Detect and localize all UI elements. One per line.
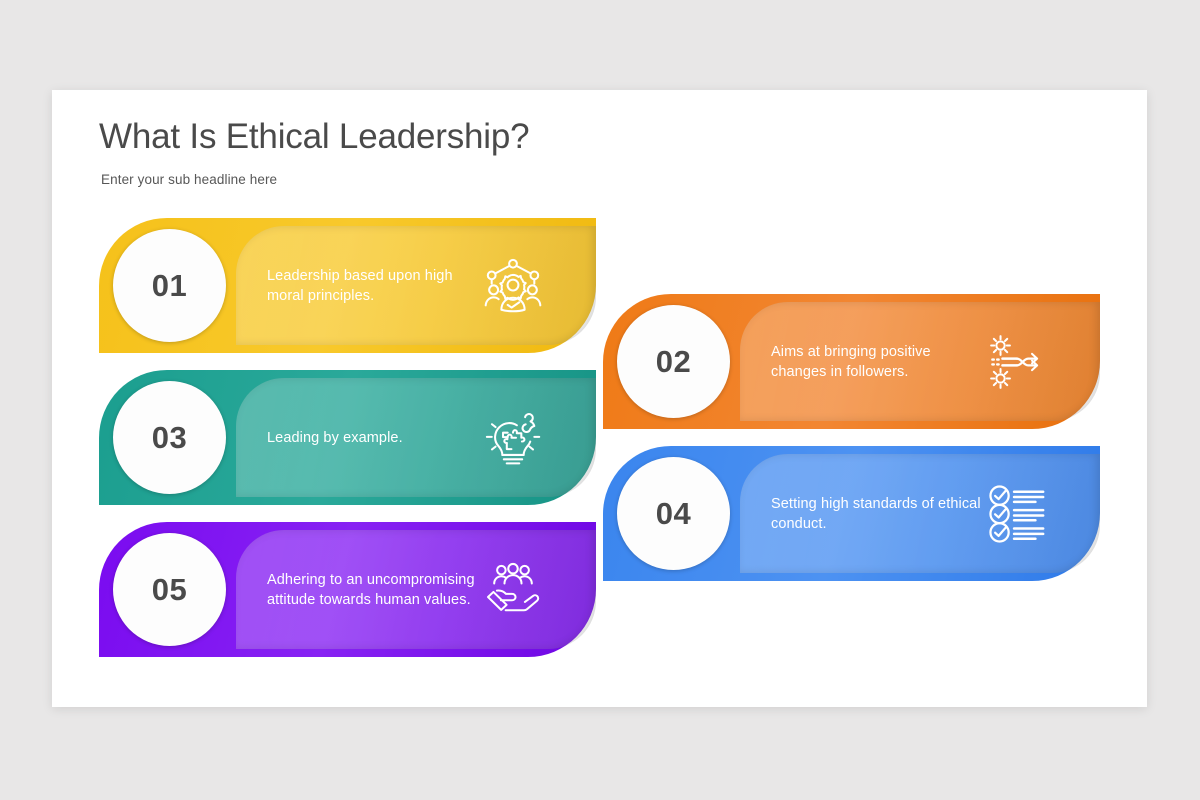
card-number-label: 01: [152, 268, 187, 304]
hand-holding-people-icon: [482, 559, 544, 621]
page-subtitle: Enter your sub headline here: [101, 172, 899, 187]
card-number-label: 05: [152, 572, 187, 608]
checklist-icon: [986, 483, 1048, 545]
card-number-label: 02: [656, 344, 691, 380]
card-number-label: 04: [656, 496, 691, 532]
info-card-03[interactable]: 03 Leading by example.: [99, 370, 596, 505]
slide-header: What Is Ethical Leadership? Enter your s…: [99, 118, 899, 187]
card-description: Setting high standards of ethical conduc…: [771, 446, 986, 581]
gears-process-arrows-icon: [986, 331, 1048, 393]
info-card-05[interactable]: 05 Adhering to an uncompromising attitud…: [99, 522, 596, 657]
slide-canvas: What Is Ethical Leadership? Enter your s…: [52, 90, 1147, 707]
card-description: Aims at bringing positive changes in fol…: [771, 294, 986, 429]
card-number-label: 03: [152, 420, 187, 456]
info-card-04[interactable]: 04 Setting high standards of ethical con…: [603, 446, 1100, 581]
card-number-badge: 03: [113, 381, 226, 494]
lightbulb-puzzle-idea-icon: [482, 407, 544, 469]
page-title: What Is Ethical Leadership?: [99, 118, 899, 157]
card-description: Leadership based upon high moral princip…: [267, 218, 482, 353]
card-description: Leading by example.: [267, 370, 482, 505]
info-card-01[interactable]: 01 Leadership based upon high moral prin…: [99, 218, 596, 353]
info-card-02[interactable]: 02 Aims at bringing positive changes in …: [603, 294, 1100, 429]
card-number-badge: 04: [617, 457, 730, 570]
card-description: Adhering to an uncompromising attitude t…: [267, 522, 482, 657]
card-number-badge: 01: [113, 229, 226, 342]
card-number-badge: 02: [617, 305, 730, 418]
team-network-icon: [482, 255, 544, 317]
card-number-badge: 05: [113, 533, 226, 646]
